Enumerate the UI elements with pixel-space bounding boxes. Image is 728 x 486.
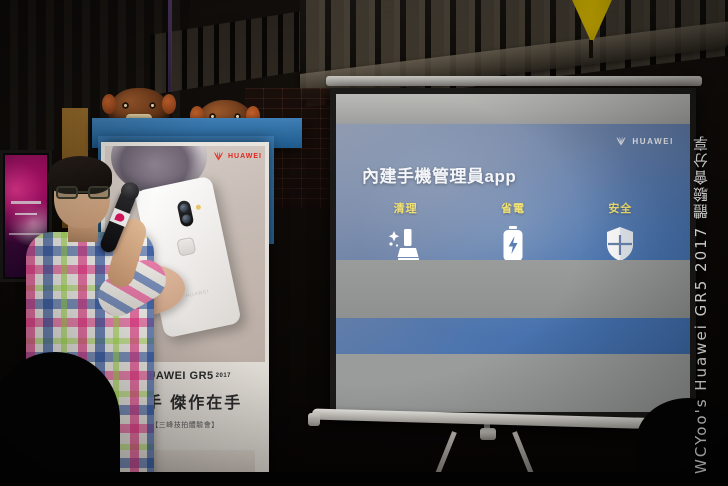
hanging-cable (168, 0, 172, 92)
column-heading-power: 省電 (459, 200, 566, 216)
huawei-flower-logo-icon (614, 136, 628, 146)
projection-screen-surface: HUAWEI 內建手機管理員app 清理 (336, 94, 690, 412)
svg-text:HUAWEI: HUAWEI (185, 289, 209, 300)
photo-watermark: WCYoo's Huawei GR5 2017 體驗會分享 (690, 92, 726, 474)
shield-icon (567, 224, 674, 264)
poster-huawei-logo: HUAWEI (212, 151, 262, 161)
phone-fingerprint-sensor (176, 237, 196, 257)
slide-title: 內建手機管理員app (362, 162, 516, 187)
photo-scene: HUAWEI HUAWEI HUAWEI GR52017 好手 傑作 (0, 0, 728, 486)
phone-flash (195, 204, 201, 210)
poster-brand-name: HUAWEI (228, 153, 262, 160)
brush-sparkle-icon (352, 224, 459, 264)
tripod-hub (480, 428, 496, 440)
slide-brand-name: HUAWEI (632, 137, 674, 146)
slide-huawei-logo: HUAWEI (614, 136, 674, 146)
column-heading-clean: 清理 (352, 200, 459, 216)
presenter-glasses (56, 186, 110, 199)
screen-top-roller (326, 76, 702, 86)
rail-end-cap-left (308, 413, 320, 426)
huawei-flower-logo-red-icon (212, 151, 225, 161)
presentation-slide: HUAWEI 內建手機管理員app 清理 (336, 124, 690, 354)
umbrella-tip (589, 40, 593, 58)
projection-screen-blank-area (336, 260, 690, 318)
battery-bolt-icon (459, 224, 566, 264)
column-heading-security: 安全 (567, 200, 674, 216)
foreground-dark-band (0, 472, 728, 486)
foreground-audience-head-left (0, 352, 120, 486)
